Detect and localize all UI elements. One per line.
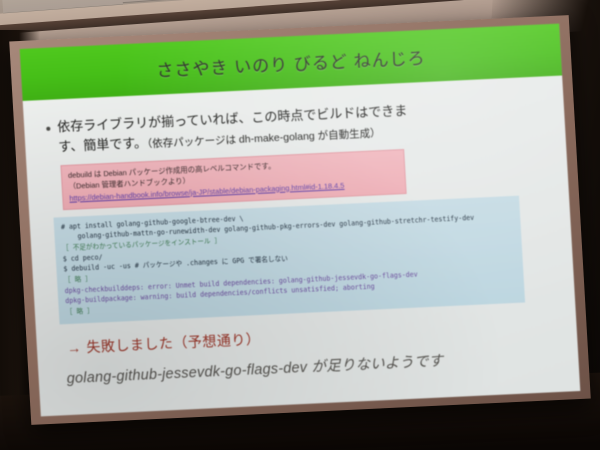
projection-screen: ささやき いのり びるど ねんじろ 依存ライブラリが揃っていれば、この時点でビル… xyxy=(20,24,581,417)
note-callout: debuild は Debian パッケージ作成用の高レベルコマンドです。 （D… xyxy=(60,149,406,209)
missing-package-name: golang-github-jessevdk-go-flags-dev xyxy=(66,359,307,386)
arrow-right-icon: → xyxy=(67,339,82,356)
bullet-dot-icon xyxy=(46,127,50,131)
slide-body: 依存ライブラリが揃っていれば、この時点でビルドはできま す、簡単です。（依存パッ… xyxy=(23,75,581,416)
terminal-transcript: # apt install golang-github-google-btree… xyxy=(53,195,525,324)
photo-of-projected-slide: ささやき いのり びるど ねんじろ 依存ライブラリが揃っていれば、この時点でビル… xyxy=(0,0,600,450)
final-line-suffix: が足りないようです xyxy=(307,353,444,375)
bullet-line-2: す、簡単です。 xyxy=(58,135,147,154)
conclusion-text: 失敗しました（予想通り） xyxy=(86,331,261,355)
bullet-text: 依存ライブラリが揃っていれば、この時点でビルドはできま す、簡単です。（依存パッ… xyxy=(57,101,409,158)
bullet-item: 依存ライブラリが揃っていれば、この時点でビルドはできま す、簡単です。（依存パッ… xyxy=(46,94,548,158)
slide-surface: ささやき いのり びるど ねんじろ 依存ライブラリが揃っていれば、この時点でビル… xyxy=(20,24,581,417)
bullet-line-2-paren: （依存パッケージは dh-make-golang が自動生成） xyxy=(147,127,381,150)
slide-title: ささやき いのり びるど ねんじろ xyxy=(156,43,426,81)
